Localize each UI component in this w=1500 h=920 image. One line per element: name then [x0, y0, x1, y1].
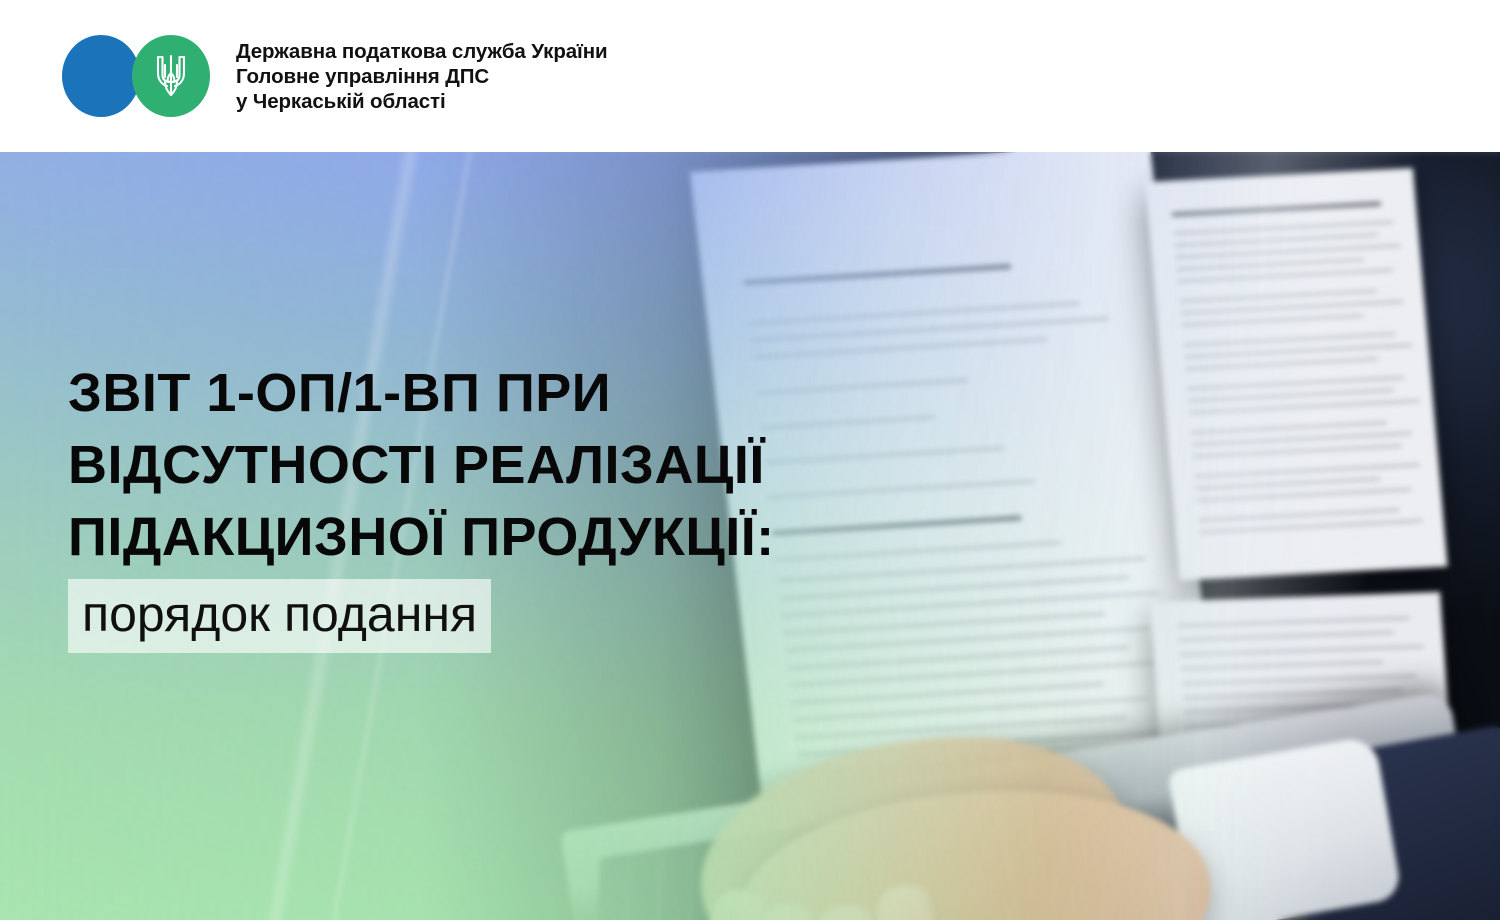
hero-title-line-1: ЗВІТ 1-ОП/1-ВП ПРИ [68, 357, 948, 429]
ukraine-trident-icon [154, 51, 188, 101]
org-line-1: Державна податкова служба України [236, 39, 608, 64]
hero-title-block: ЗВІТ 1-ОП/1-ВП ПРИ ВІДСУТНОСТІ РЕАЛІЗАЦІ… [68, 357, 948, 653]
hero-banner: ЗВІТ 1-ОП/1-ВП ПРИ ВІДСУТНОСТІ РЕАЛІЗАЦІ… [0, 152, 1500, 920]
org-line-2: Головне управління ДПС [236, 64, 608, 89]
org-titles: Державна податкова служба України Головн… [236, 39, 608, 114]
hero-subtitle: порядок подання [82, 585, 477, 643]
hero-subtitle-highlight: порядок подання [68, 579, 491, 653]
org-line-3: у Черкаській області [236, 89, 608, 114]
hero-title-line-2: ВІДСУТНОСТІ РЕАЛІЗАЦІЇ [68, 429, 948, 501]
banner: Державна податкова служба України Головн… [0, 0, 1500, 920]
dps-logo[interactable] [62, 35, 222, 117]
hero-title-line-3: ПІДАКЦИЗНОЇ ПРОДУКЦІЇ: [68, 501, 948, 573]
site-header: Державна податкова служба України Головн… [0, 0, 1500, 152]
logo-blue-circle-icon [62, 35, 140, 117]
